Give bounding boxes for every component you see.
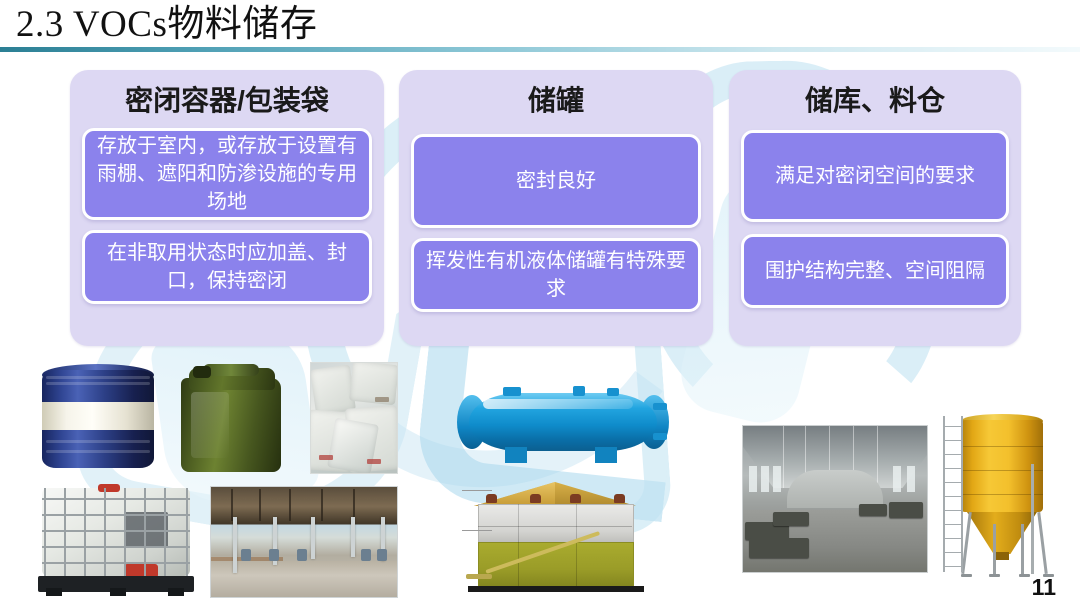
silo-outlet: [995, 552, 1009, 560]
vessel-saddle: [595, 447, 617, 463]
panel-chip: 满足对密闭空间的要求: [741, 130, 1009, 222]
tank-shell-seam: [518, 504, 519, 586]
jerry-can-handle: [203, 364, 259, 376]
tank-roof-fitting: [486, 494, 497, 503]
ibc-foot: [110, 588, 126, 596]
vessel-nozzle: [503, 387, 521, 396]
chip-text: 满足对密闭空间的要求: [752, 162, 998, 190]
panel-title: 密闭容器/包装袋: [70, 84, 384, 118]
silo-ring-seam: [961, 446, 1043, 447]
vessel-nozzle: [653, 433, 667, 440]
vessel-nozzle: [573, 386, 585, 396]
bag-print-mark: [319, 455, 333, 460]
ibc-cage-bar: [42, 498, 190, 500]
panel-title: 储库、料仓: [729, 84, 1021, 118]
warehouse-goods-stack: [749, 538, 809, 558]
ladder-rung: [945, 510, 961, 511]
ibc-fill-cap: [98, 484, 120, 492]
warehouse-back-wall: [787, 470, 883, 508]
tank-shell-seam: [576, 504, 577, 586]
bag-print-mark: [367, 459, 381, 464]
bag-print-mark: [375, 397, 389, 402]
warehouse-goods-stack: [859, 504, 887, 516]
warehouse-window: [749, 466, 757, 492]
tank-roof-fitting: [614, 494, 625, 503]
chip-text: 在非取用状态时应加盖、封口，保持密闭: [93, 239, 361, 295]
silo-support-leg: [993, 524, 996, 574]
panel-chip: 密封良好: [411, 134, 701, 228]
silo-down-pipe: [1031, 464, 1034, 574]
silo-support-leg: [1021, 524, 1024, 574]
vessel-nozzle: [653, 403, 667, 410]
jerry-can-photo: [175, 362, 287, 474]
warehouse-interior-photo: [742, 425, 928, 573]
ladder-rung: [945, 552, 961, 553]
panel-warehouse-silo: 储库、料仓 满足对密闭空间的要求 围护结构完整、空间阻隔: [729, 70, 1021, 346]
warehouse-window: [907, 466, 915, 492]
ladder-rung: [945, 454, 961, 455]
tank-shell-seam: [478, 526, 632, 527]
shed-stored-drum: [269, 549, 279, 561]
silo-base-plate: [1019, 574, 1030, 577]
silo-photo: [935, 412, 1067, 590]
diagram-leader-line: [462, 490, 492, 491]
silo-discharge-cone: [967, 512, 1037, 554]
panel-chip: 围护结构完整、空间阻隔: [741, 234, 1009, 308]
ladder-rung: [945, 524, 961, 525]
chip-text: 密封良好: [422, 167, 690, 195]
ibc-cage-bar: [42, 562, 190, 564]
tank-outlet-pipe: [466, 574, 492, 579]
steel-drum-photo: [42, 364, 154, 474]
chip-text: 存放于室内，或存放于设置有雨棚、遮阳和防渗设施的专用场地: [93, 132, 361, 216]
silo-base-plate: [989, 574, 1000, 577]
shed-stored-drum: [241, 549, 251, 561]
ladder-rung: [945, 482, 961, 483]
ladder-rung: [945, 496, 961, 497]
ladder-rung: [945, 440, 961, 441]
covered-shed-photo: [210, 486, 398, 598]
shed-beam: [259, 489, 261, 521]
ladder-rung: [945, 426, 961, 427]
ibc-foot: [168, 588, 184, 596]
pressure-vessel-photo: [455, 385, 670, 463]
shed-beam: [289, 489, 291, 521]
ladder-rung: [945, 468, 961, 469]
tank-upper-shell: [478, 504, 634, 544]
drum-rib: [46, 382, 150, 385]
drum-rib: [46, 440, 150, 443]
woven-bags-photo: [310, 362, 398, 474]
ladder-rung: [945, 538, 961, 539]
panel-chip: 在非取用状态时应加盖、封口，保持密闭: [82, 230, 372, 304]
warehouse-window: [761, 466, 769, 492]
tank-section-diagram: [460, 478, 650, 596]
silo-access-ladder: [943, 416, 963, 572]
shed-column: [233, 517, 237, 573]
ibc-cage-bar: [42, 514, 190, 516]
ibc-cage-bar: [42, 530, 190, 532]
warehouse-truss: [783, 426, 784, 488]
ibc-cage-bar: [42, 546, 190, 548]
warehouse-goods-stack: [889, 502, 923, 518]
jerry-can-highlight: [191, 392, 229, 458]
shed-stored-drum: [377, 549, 387, 561]
panel-chip: 挥发性有机液体储罐有特殊要求: [411, 238, 701, 312]
panel-chip: 存放于室内，或存放于设置有雨棚、遮阳和防渗设施的专用场地: [82, 128, 372, 220]
tank-roof-fitting: [570, 494, 581, 503]
shed-column: [311, 517, 315, 559]
vessel-highlight: [483, 399, 633, 409]
jerry-can-cap: [193, 366, 211, 378]
ibc-tote-photo: [36, 484, 196, 596]
vessel-saddle: [505, 447, 527, 463]
chip-text: 挥发性有机液体储罐有特殊要求: [422, 247, 690, 303]
slide-canvas: 2.3 VOCs物料储存 密闭容器/包装袋 存放于室内，或存放于设置有雨棚、遮阳…: [0, 0, 1080, 607]
warehouse-window: [773, 466, 781, 492]
tank-roof-fitting: [530, 494, 541, 503]
drum-band: [42, 402, 154, 430]
shed-floor: [211, 561, 397, 597]
silo-base-plate: [961, 574, 972, 577]
panel-sealed-container: 密闭容器/包装袋 存放于室内，或存放于设置有雨棚、遮阳和防渗设施的专用场地 在非…: [70, 70, 384, 346]
panel-storage-tank: 储罐 密封良好 挥发性有机液体储罐有特殊要求: [399, 70, 713, 346]
ibc-foot: [46, 588, 62, 596]
chip-text: 围护结构完整、空间阻隔: [752, 257, 998, 285]
bag-item: [349, 362, 398, 405]
vessel-nozzle: [607, 388, 619, 396]
shed-stored-drum: [361, 549, 371, 561]
shed-beam: [321, 489, 323, 521]
bag-item: [327, 418, 379, 474]
shed-roof: [210, 487, 398, 525]
ladder-rung: [945, 566, 961, 567]
shed-column: [351, 517, 355, 557]
panel-title: 储罐: [399, 84, 713, 118]
page-number: 11: [1032, 574, 1056, 601]
tank-foundation: [468, 586, 644, 592]
warehouse-window: [893, 466, 901, 492]
diagram-leader-line: [462, 530, 492, 531]
warehouse-truss: [877, 426, 878, 488]
warehouse-goods-stack: [773, 512, 809, 526]
shed-stored-drum: [297, 549, 307, 561]
drum-rib: [46, 376, 150, 379]
silo-support-leg: [1037, 512, 1048, 574]
drum-rib: [46, 450, 150, 453]
